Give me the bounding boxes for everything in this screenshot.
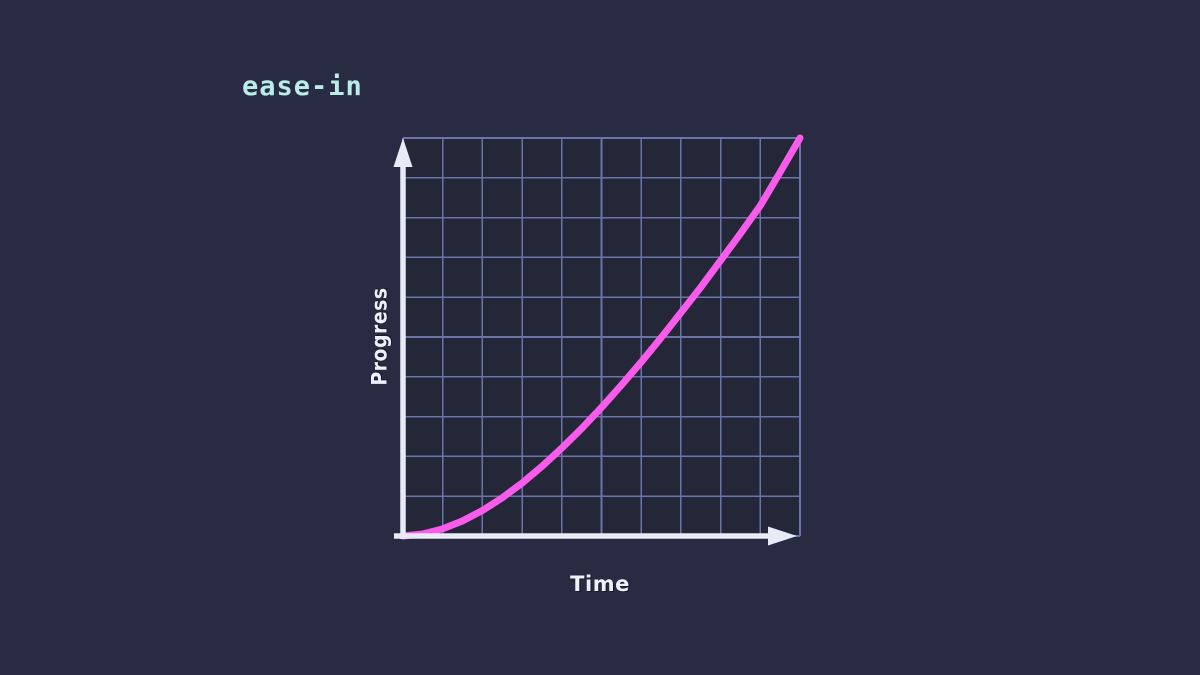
y-axis-label: Progress [370, 257, 391, 417]
chart-canvas: ease-in [0, 0, 1200, 675]
x-axis-label: Time [520, 574, 680, 595]
